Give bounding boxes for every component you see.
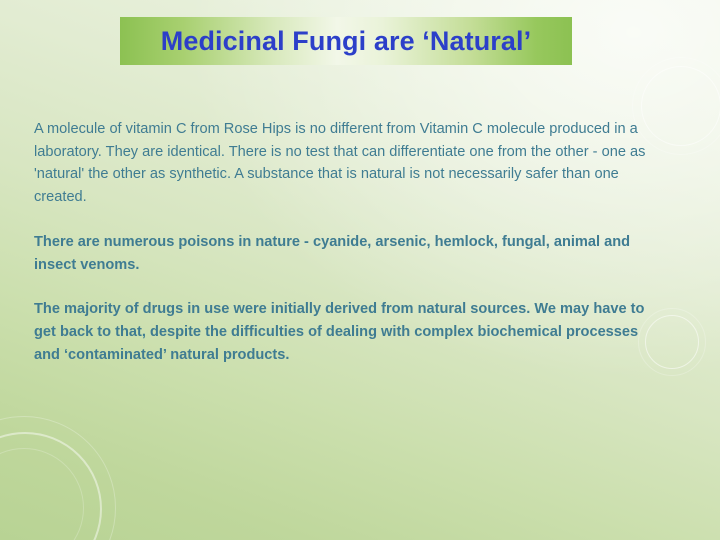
body-paragraph-drugs: The majority of drugs in use were initia… (34, 298, 650, 366)
decorative-circle-icon (0, 432, 102, 540)
slide-title: Medicinal Fungi are ‘Natural’ (161, 28, 531, 55)
body-paragraph-poisons: There are numerous poisons in nature - c… (34, 231, 650, 276)
slide-body: A molecule of vitamin C from Rose Hips i… (34, 118, 650, 366)
decorative-circle-icon (0, 448, 84, 540)
slide-title-banner: Medicinal Fungi are ‘Natural’ (120, 17, 572, 65)
decorative-circle-icon (0, 416, 116, 540)
body-paragraph-intro: A molecule of vitamin C from Rose Hips i… (34, 118, 650, 209)
slide-canvas: Medicinal Fungi are ‘Natural’ A molecule… (0, 0, 720, 540)
decorative-circle-icon (645, 315, 699, 369)
decorative-circle-icon (641, 66, 720, 146)
